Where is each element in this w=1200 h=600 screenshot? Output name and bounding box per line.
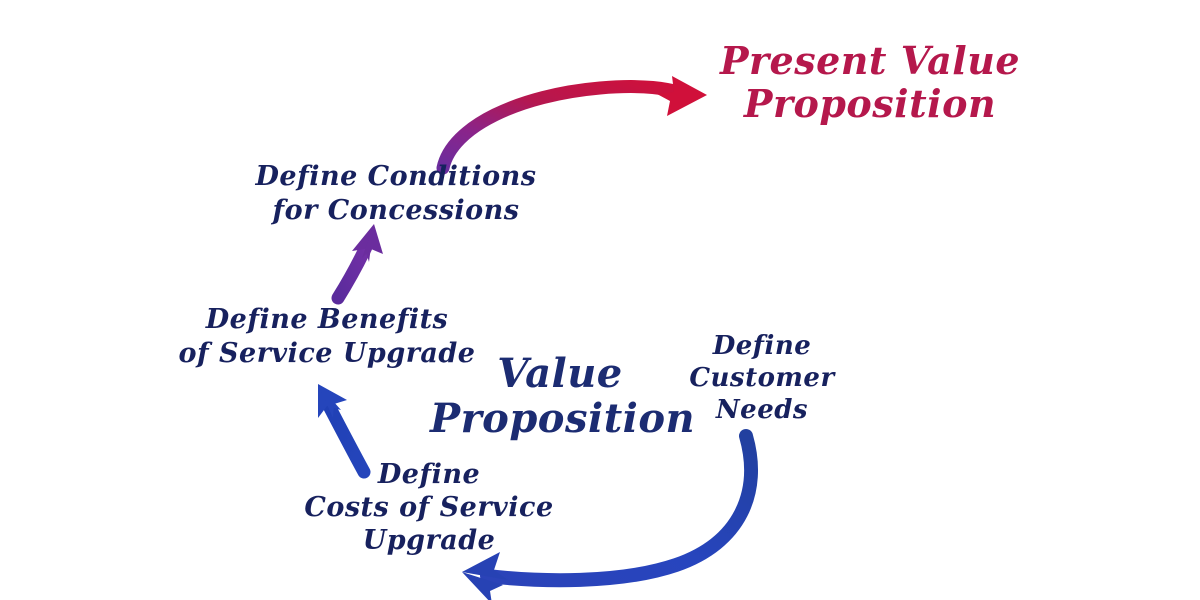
arrow-benefits-to-conditions: [338, 224, 383, 298]
node-define-customer-needs: Define Customer Needs: [682, 331, 842, 427]
arrow-conditions-to-present-value: [443, 76, 707, 168]
node-define-costs-of-service-upgrade: Define Costs of Service Upgrade: [300, 459, 558, 558]
diagram-canvas: Present Value Proposition Define Conditi…: [0, 0, 1200, 600]
node-define-conditions-for-concessions: Define Conditions for Concessions: [236, 160, 556, 228]
diagram-center-title: Value Proposition: [430, 352, 690, 442]
node-present-value-proposition: Present Value Proposition: [690, 40, 1050, 125]
